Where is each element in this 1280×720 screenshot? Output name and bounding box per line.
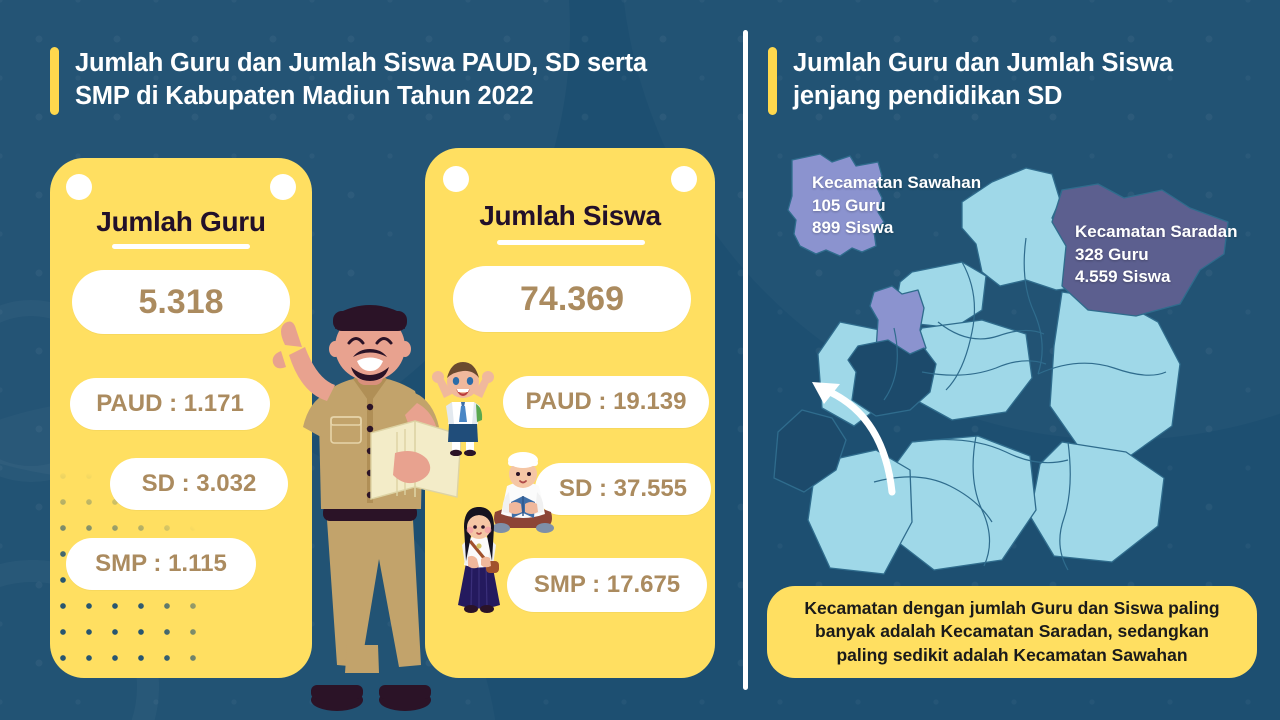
infographic-canvas: Jumlah Guru dan Jumlah Siswa PAUD, SD se…	[0, 0, 1280, 720]
summary-caption: Kecamatan dengan jumlah Guru dan Siswa p…	[767, 586, 1257, 678]
right-panel-title: Jumlah Guru dan Jumlah Siswa jenjang pen…	[768, 47, 1173, 115]
guru-paud-pill: PAUD : 1.171	[70, 378, 270, 430]
guru-sd-pill: SD : 3.032	[110, 458, 288, 510]
left-title-text: Jumlah Guru dan Jumlah Siswa PAUD, SD se…	[75, 47, 647, 112]
map-label-sawahan: Kecamatan Sawahan 105 Guru 899 Siswa	[812, 172, 981, 240]
student-smp-illustration	[448, 505, 510, 617]
map-region-base-southeast	[1030, 442, 1164, 562]
siswa-total-pill: 74.369	[453, 266, 691, 332]
punch-hole-right	[671, 166, 697, 192]
siswa-sd-pill: SD : 37.555	[535, 463, 711, 515]
card-title-guru: Jumlah Guru	[50, 206, 312, 238]
right-title-text: Jumlah Guru dan Jumlah Siswa jenjang pen…	[793, 47, 1173, 112]
card-title-rule	[112, 244, 250, 249]
guru-total-pill: 5.318	[72, 270, 290, 334]
card-title-siswa: Jumlah Siswa	[425, 200, 715, 232]
siswa-paud-pill: PAUD : 19.139	[503, 376, 709, 428]
guru-smp-pill: SMP : 1.115	[66, 538, 256, 590]
map-label-saradan: Kecamatan Saradan 328 Guru 4.559 Siswa	[1075, 221, 1238, 289]
punch-hole-left	[443, 166, 469, 192]
left-panel-title: Jumlah Guru dan Jumlah Siswa PAUD, SD se…	[50, 47, 647, 115]
student-paud-illustration	[432, 358, 494, 456]
punch-hole-left	[66, 174, 92, 200]
card-title-rule	[497, 240, 645, 245]
title-accent-bar	[50, 47, 59, 115]
siswa-smp-pill: SMP : 17.675	[507, 558, 707, 612]
punch-hole-right	[270, 174, 296, 200]
panel-divider	[743, 30, 748, 690]
title-accent-bar	[768, 47, 777, 115]
